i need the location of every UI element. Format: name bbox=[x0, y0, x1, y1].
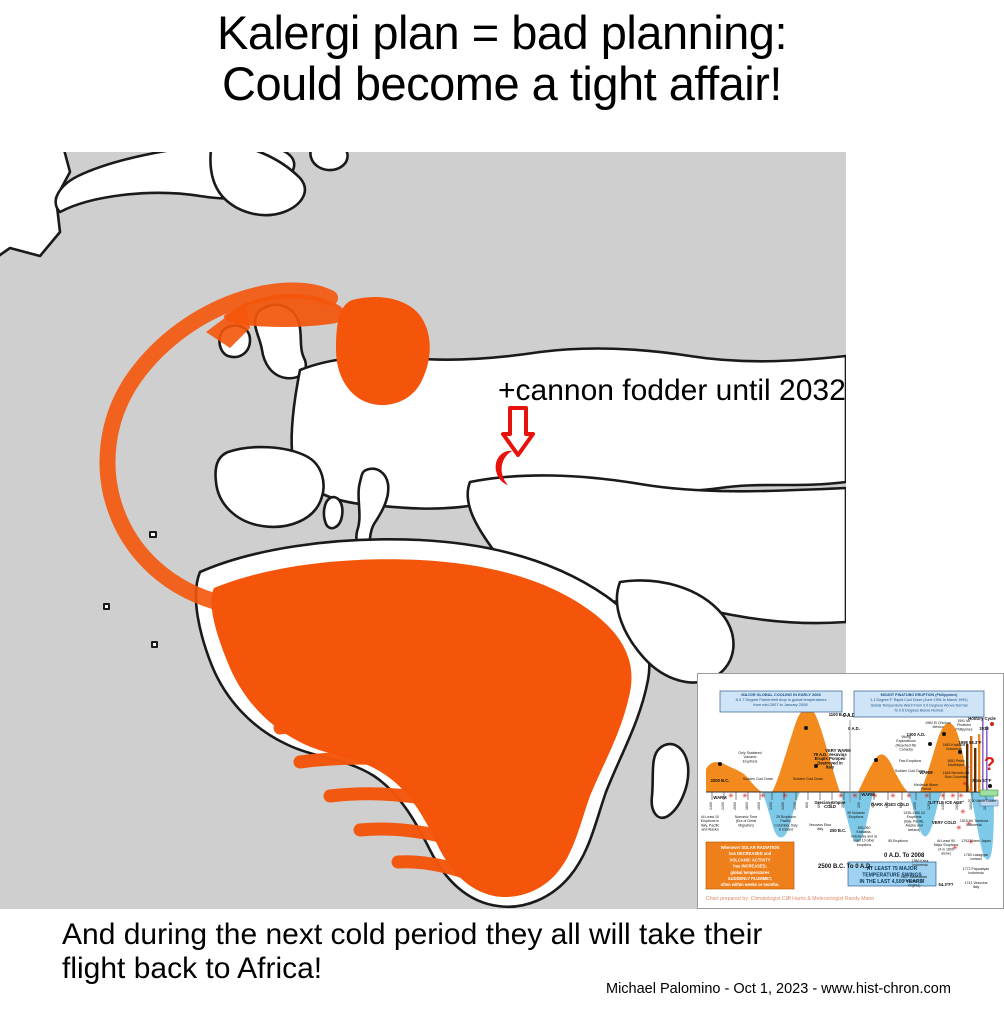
svg-text:Italy: Italy bbox=[973, 885, 980, 889]
global-temperature-chart: 0 A.D. 240022002000180016001400120010008… bbox=[697, 673, 1004, 909]
svg-text:Martinique: Martinique bbox=[948, 763, 964, 767]
svg-text:1998 58.3°F: 1998 58.3°F bbox=[959, 740, 982, 745]
germany-highlight bbox=[336, 297, 430, 405]
svg-text:✳: ✳ bbox=[742, 792, 748, 800]
svg-text:1.1 Degree F. Rapid Cool Down: 1.1 Degree F. Rapid Cool Down (June 1991… bbox=[870, 698, 967, 702]
svg-text:2400: 2400 bbox=[709, 802, 713, 810]
svg-text:Ruiz Columbia: Ruiz Columbia bbox=[945, 775, 968, 779]
svg-text:Whenever SOLAR RADIATION: Whenever SOLAR RADIATION bbox=[721, 845, 780, 850]
svg-text:Global Temperature Went From 0: Global Temperature Went From 0.6 Degrees… bbox=[871, 703, 968, 707]
svg-text:Virginia): Virginia) bbox=[908, 883, 921, 887]
svg-text:54.3°F?: 54.3°F? bbox=[939, 882, 954, 887]
svg-text:MOUNT PINATUBO ERUPTION (Phili: MOUNT PINATUBO ERUPTION (Philippines) bbox=[881, 693, 959, 697]
caption-line-1: And during the next cold period they all… bbox=[62, 918, 962, 952]
svg-text:1400: 1400 bbox=[769, 802, 773, 810]
svg-text:250 B.C.: 250 B.C. bbox=[830, 828, 847, 833]
svg-text:200: 200 bbox=[857, 802, 861, 808]
svg-text:✳: ✳ bbox=[838, 792, 844, 800]
svg-text:✳: ✳ bbox=[782, 792, 788, 800]
now-temp-band bbox=[980, 790, 998, 796]
svg-text:✳: ✳ bbox=[956, 824, 962, 832]
svg-text:Canada): Canada) bbox=[899, 748, 912, 752]
svg-text:has DECREASED and: has DECREASED and bbox=[729, 851, 772, 856]
svg-text:often within weeks or months.: often within weeks or months. bbox=[721, 882, 780, 887]
svg-text:✳: ✳ bbox=[924, 792, 930, 800]
svg-text:Indonesia: Indonesia bbox=[912, 863, 927, 867]
svg-text:DARK AGES COLD: DARK AGES COLD bbox=[871, 802, 909, 807]
svg-text:Sudden Cool Down: Sudden Cool Down bbox=[743, 777, 773, 781]
map-annotation-label: +cannon fodder until 2032 bbox=[498, 374, 846, 408]
section-label-right: 0 A.D. To 2008 bbox=[884, 853, 925, 859]
svg-text:✳: ✳ bbox=[906, 792, 912, 800]
svg-text:Mexico: Mexico bbox=[932, 725, 943, 729]
svg-text:✳: ✳ bbox=[940, 792, 946, 800]
svg-text:To 0.5 Degrees Below Normal.: To 0.5 Degrees Below Normal. bbox=[894, 709, 944, 713]
svg-text:Eruptions: Eruptions bbox=[743, 759, 758, 763]
svg-text:Migration): Migration) bbox=[738, 823, 754, 827]
svg-text:Philippines: Philippines bbox=[956, 727, 973, 731]
svg-text:✳: ✳ bbox=[890, 792, 896, 800]
caption: And during the next cold period they all… bbox=[62, 918, 962, 985]
svg-text:1800: 1800 bbox=[969, 802, 973, 810]
svg-text:Indonesia: Indonesia bbox=[946, 747, 961, 751]
svg-text:from mid-2007 to January 2008.: from mid-2007 to January 2008. bbox=[753, 702, 808, 707]
svg-text:0 A.D.: 0 A.D. bbox=[848, 726, 860, 731]
svg-text:1000: 1000 bbox=[793, 802, 797, 810]
source-credit: Michael Palomino - Oct 1, 2023 - www.his… bbox=[606, 981, 951, 997]
svg-text:✳: ✳ bbox=[950, 792, 956, 800]
svg-text:800: 800 bbox=[805, 802, 809, 808]
svg-text:Italy: Italy bbox=[817, 827, 824, 831]
svg-text:Sudden Cool Down: Sudden Cool Down bbox=[895, 769, 925, 773]
svg-text:global temperatures: global temperatures bbox=[730, 870, 770, 875]
svg-text:2000: 2000 bbox=[733, 802, 737, 810]
crescent-icon bbox=[492, 448, 522, 488]
svg-text:✳: ✳ bbox=[728, 792, 734, 800]
svg-text:WARM: WARM bbox=[861, 792, 875, 797]
chart-graphic: 0 A.D. 240022002000180016001400120010008… bbox=[698, 674, 1003, 908]
svg-text:has INCREASED,: has INCREASED, bbox=[733, 864, 766, 869]
svg-text:& Iceland: & Iceland bbox=[779, 828, 794, 832]
svg-text:eruptions: eruptions bbox=[857, 843, 872, 847]
svg-text:VOLCANIC ACTIVITY: VOLCANIC ACTIVITY bbox=[729, 857, 770, 862]
svg-text:"LITTLE ICE AGE": "LITTLE ICE AGE" bbox=[928, 800, 964, 805]
page-title-line-2: Could become a tight affair! bbox=[0, 59, 1004, 110]
svg-text:Indonesia: Indonesia bbox=[966, 823, 981, 827]
svg-text:✳: ✳ bbox=[960, 808, 966, 816]
svg-text:Indonesia: Indonesia bbox=[968, 871, 983, 875]
chart-credit: Chart prepared by: Climatologist Cliff H… bbox=[706, 896, 874, 902]
svg-text:SUDDENLY PLUMMET,: SUDDENLY PLUMMET, bbox=[728, 876, 772, 881]
svg-text:Italy: Italy bbox=[826, 765, 835, 770]
svg-text:Few Eruptions: Few Eruptions bbox=[899, 759, 922, 763]
svg-text:Period: Period bbox=[921, 787, 931, 791]
svg-text:2200: 2200 bbox=[721, 802, 725, 810]
svg-text:2050 Much Colder: 2050 Much Colder bbox=[968, 799, 997, 803]
svg-text:1000: 1000 bbox=[913, 802, 917, 810]
svg-text:and Alaska: and Alaska bbox=[701, 828, 718, 832]
svg-text:AT LEAST 75 MAJOR: AT LEAST 75 MAJOR bbox=[867, 866, 918, 872]
svg-text:✳: ✳ bbox=[852, 792, 858, 800]
page-title-line-1: Kalergi plan = bad planning: bbox=[0, 8, 1004, 59]
svg-text:COLD: COLD bbox=[824, 804, 836, 809]
svg-text:1792 Unzen Japan: 1792 Unzen Japan bbox=[961, 839, 990, 843]
svg-text:Eruptions: Eruptions bbox=[849, 815, 864, 819]
svg-text:VERY COLD: VERY COLD bbox=[932, 820, 956, 825]
svg-text:Sudden Cool Down: Sudden Cool Down bbox=[793, 777, 823, 781]
question-mark-annotation: ? bbox=[984, 754, 995, 774]
svg-text:Iceland): Iceland) bbox=[908, 828, 920, 832]
svg-text:Iceland: Iceland bbox=[970, 857, 981, 861]
svg-text:1200: 1200 bbox=[781, 802, 785, 810]
svg-text:alone): alone) bbox=[941, 852, 951, 856]
svg-text:✳: ✳ bbox=[760, 792, 766, 800]
section-label-left: 2500 B.C. To 0 A.D. bbox=[818, 864, 872, 870]
page-title: Kalergi plan = bad planning: Could becom… bbox=[0, 8, 1004, 110]
svg-text:1600: 1600 bbox=[757, 802, 761, 810]
svg-text:2038: 2038 bbox=[979, 726, 989, 731]
svg-text:✳: ✳ bbox=[958, 792, 964, 800]
svg-text:1800: 1800 bbox=[745, 802, 749, 810]
svg-text:Now 57°F: Now 57°F bbox=[973, 778, 992, 783]
svg-text:1100 B.C.: 1100 B.C. bbox=[829, 712, 848, 717]
svg-text:WARM: WARM bbox=[713, 795, 727, 800]
svg-text:55 Eruptions: 55 Eruptions bbox=[888, 839, 908, 843]
svg-text:2200 B.C.: 2200 B.C. bbox=[711, 778, 730, 783]
svg-text:Hot/Dry Cycle: Hot/Dry Cycle bbox=[968, 716, 996, 721]
